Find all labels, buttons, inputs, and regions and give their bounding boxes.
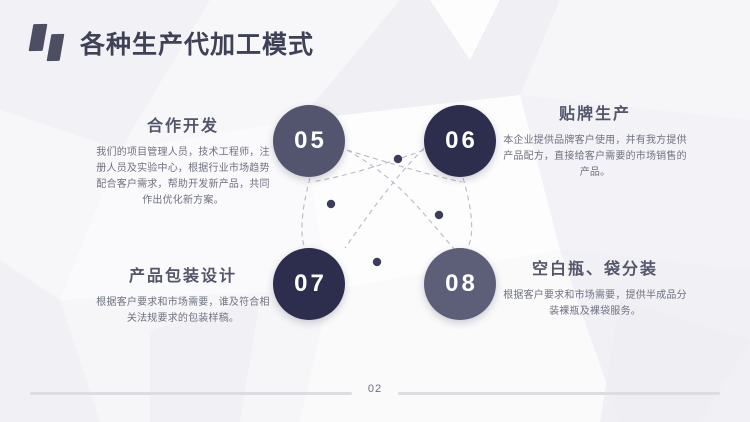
block-cooperative-development: 合作开发 我们的项目管理人员，技术工程师，注册人员及实验中心，根据行业市场趋势配… (93, 112, 273, 209)
block-body-package-design: 根据客户要求和市场需要，谁及符合相关法规要求的包装样稿。 (93, 295, 273, 327)
slide-footer: 02 (0, 386, 750, 400)
block-body-cooperative-development: 我们的项目管理人员，技术工程师，注册人员及实验中心，根据行业市场趋势配合客户需求… (93, 145, 273, 209)
logo-bar-left (29, 24, 48, 51)
node-circle-06[interactable]: 06 (424, 105, 496, 177)
block-title-oem-production: 贴牌生产 (500, 100, 690, 124)
slide-canvas: 各种生产代加工模式 05 06 07 08 合作开发 我们的项目管理人员，技术工… (0, 0, 750, 422)
slide-header: 各种生产代加工模式 (0, 0, 750, 78)
block-blank-bottle-bag: 空白瓶、袋分装 根据客户要求和市场需要，提供半成品分装裸瓶及裸袋服务。 (500, 255, 690, 320)
block-title-cooperative-development: 合作开发 (93, 112, 273, 136)
block-body-oem-production: 本企业提供品牌客户使用，并有我方提供产品配方，直接给客户需要的市场销售的产品。 (500, 133, 690, 181)
node-circle-08[interactable]: 08 (424, 248, 496, 320)
block-body-blank-bottle-bag: 根据客户要求和市场需要，提供半成品分装裸瓶及裸袋服务。 (500, 288, 690, 320)
logo-bar-right (47, 34, 65, 61)
node-circle-05[interactable]: 05 (273, 105, 345, 177)
footer-rule-right (398, 392, 720, 395)
page-title: 各种生产代加工模式 (80, 25, 314, 61)
block-title-package-design: 产品包装设计 (93, 262, 273, 286)
two-slanted-bars-logo-icon (30, 24, 72, 62)
node-circle-07[interactable]: 07 (273, 248, 345, 320)
block-oem-production: 贴牌生产 本企业提供品牌客户使用，并有我方提供产品配方，直接给客户需要的市场销售… (500, 100, 690, 181)
block-title-blank-bottle-bag: 空白瓶、袋分装 (500, 255, 690, 279)
block-package-design: 产品包装设计 根据客户要求和市场需要，谁及符合相关法规要求的包装样稿。 (93, 262, 273, 327)
